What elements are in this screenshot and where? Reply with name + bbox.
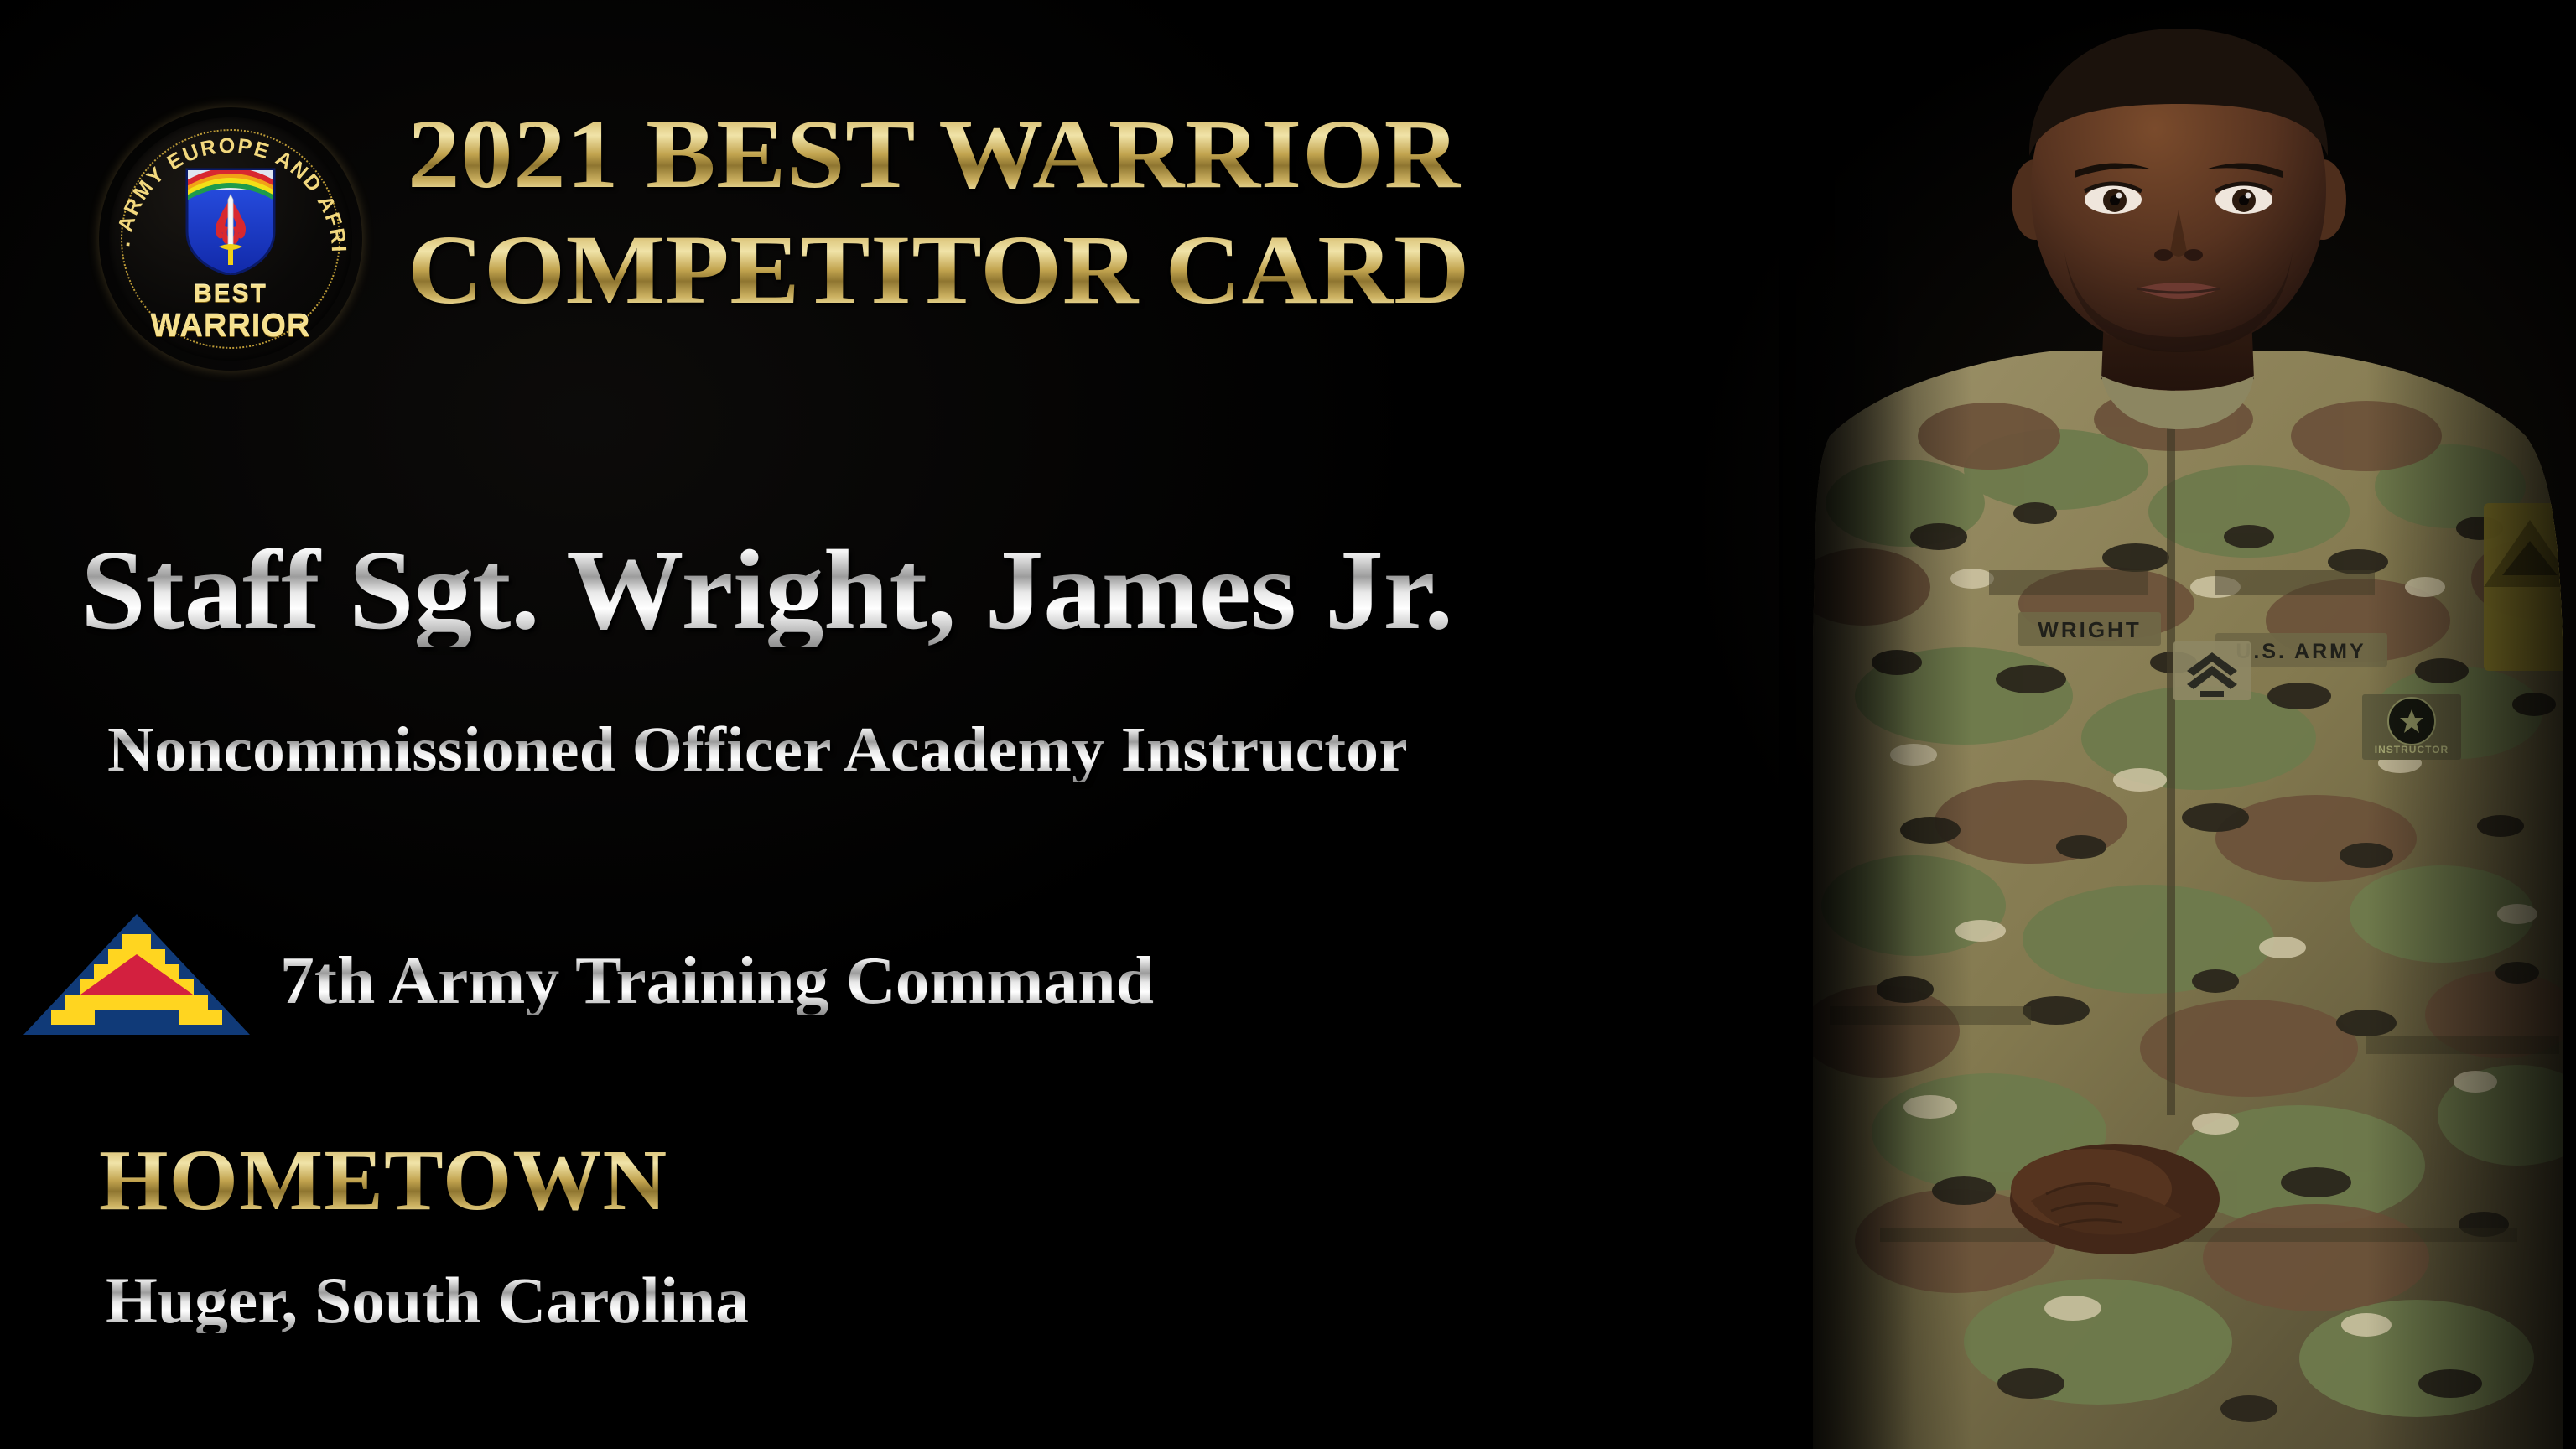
hometown-label: HOMETOWN <box>99 1137 667 1224</box>
rank-insignia-staff-sergeant <box>2173 641 2251 700</box>
card-title: 2021 BEST WARRIOR COMPETITOR CARD <box>408 107 1766 317</box>
svg-text:U.S. ARMY: U.S. ARMY <box>2236 640 2366 663</box>
competitor-unit: 7th Army Training Command <box>280 948 1154 1015</box>
title-line-2: COMPETITOR CARD <box>408 223 1847 317</box>
seventh-army-patch-icon <box>20 911 253 1038</box>
edge-fade-left <box>1779 0 1914 1449</box>
unit-row: 7th Army Training Command <box>20 911 1137 1038</box>
competitor-billet: Noncommissioned Officer Academy Instruct… <box>107 718 1408 782</box>
competitor-card: U.S. ARMY EUROPE AND AFRICA <box>0 0 2576 1449</box>
svg-text:WRIGHT: WRIGHT <box>2038 617 2141 642</box>
coin-word-warrior: WARRIOR <box>99 309 362 345</box>
competitor-name: Staff Sgt. Wright, James Jr. <box>80 533 1453 647</box>
best-warrior-coin-logo: U.S. ARMY EUROPE AND AFRICA <box>99 107 362 371</box>
usareur-af-shield-icon <box>185 168 276 275</box>
hometown-value: Huger, South Carolina <box>106 1268 749 1333</box>
nametape: WRIGHT <box>2018 612 2161 646</box>
competitor-portrait: WRIGHT U.S. ARMY <box>1779 0 2576 1449</box>
head <box>2029 29 2328 352</box>
clasped-hands <box>2010 1144 2220 1254</box>
coin-word-best: BEST <box>99 280 362 309</box>
title-line-1: 2021 BEST WARRIOR <box>408 107 1847 201</box>
portrait-illustration: WRIGHT U.S. ARMY <box>1779 0 2576 1449</box>
